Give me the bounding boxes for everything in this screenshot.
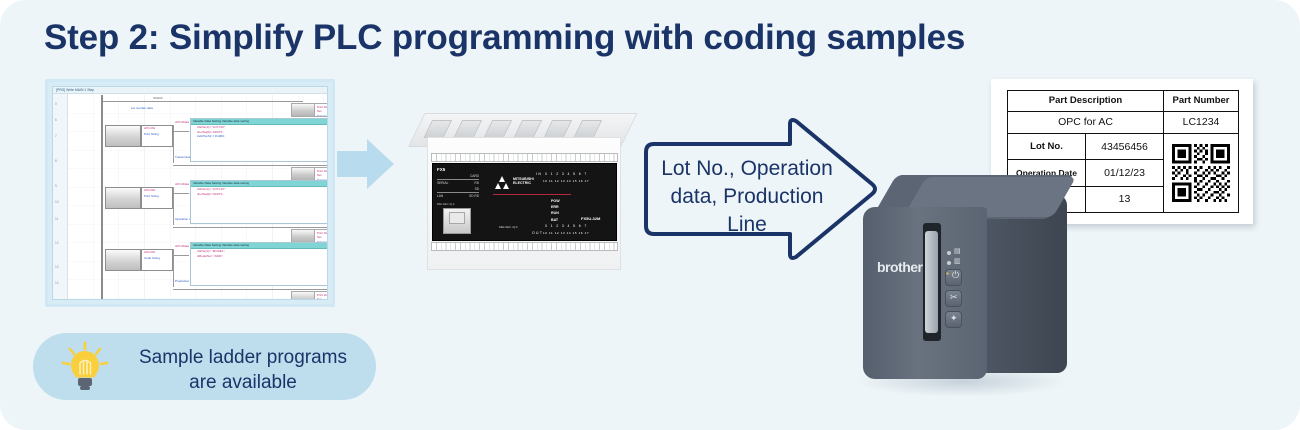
- ladder-wire: [103, 101, 303, 102]
- wireless-icon: ✦: [950, 313, 958, 324]
- ladder-button-note-title: Print Data Set: [317, 105, 328, 114]
- label-header-part-number: Part Number: [1164, 91, 1239, 112]
- printer-status-led-2: [947, 261, 951, 265]
- plc-vent: [543, 120, 572, 138]
- ladder-row-gutter: 0 6 7 8 9 10 11 12 13 14 15: [53, 94, 68, 299]
- plc-left-panel: FX5 CARD SERIAL RD SD LAN SD RD MELSEC i…: [435, 166, 481, 239]
- ladder-operand-label: sPrintStr: [144, 188, 156, 192]
- plc-output-label: OUT: [532, 231, 543, 235]
- ladder-button-block[interactable]: Print Data Set Transmits to printer: [291, 167, 328, 181]
- ladder-button-block[interactable]: Print Data Set Transmits to printer: [291, 291, 328, 300]
- plc-serial-sd: SD: [437, 187, 479, 191]
- plc-status-leds: POW ERR RUN BAT: [551, 198, 560, 223]
- ladder-row-number: 13: [53, 266, 67, 269]
- ladder-row-number: 0: [53, 103, 67, 106]
- ladder-code-line: sVarTopStr = D1000;: [191, 134, 328, 139]
- ladder-button-note-body: Transmits data: [317, 114, 328, 116]
- ladder-function-button[interactable]: [292, 104, 315, 116]
- callout-text: Sample ladder programs are available: [121, 345, 365, 395]
- ladder-button-note: Print Data Set Transmits to printer: [315, 230, 328, 242]
- table-row: Lot No. 43456456: [1008, 133, 1239, 159]
- ladder-function-button[interactable]: [292, 168, 315, 180]
- label-row-value-hidden: 13: [1086, 186, 1164, 212]
- ladder-operand-block[interactable]: sPrintStr Code String: [141, 249, 173, 271]
- label-row-label-lot-no: Lot No.: [1008, 133, 1086, 159]
- ladder-operand-block[interactable]: sPrintStr Print String: [141, 125, 173, 147]
- mitsubishi-triangle-icon: [495, 176, 510, 189]
- brother-label-printer: brother ▤ ▥ ● ⏻ ✂ ✦: [845, 175, 1085, 407]
- plc-vent: [573, 120, 602, 138]
- ladder-instruction-block[interactable]: [105, 125, 141, 147]
- plc-input-row-1: 0 1 2 3 4 5 6 7: [545, 172, 588, 176]
- printer-brand-logo: brother: [877, 259, 923, 275]
- plc-terminal-strip-top: [431, 153, 618, 162]
- label-row-value-operation-date: 01/12/23: [1086, 160, 1164, 186]
- printer-side-panel: [985, 195, 1067, 373]
- qr-code-icon: [1172, 144, 1230, 202]
- ladder-button-note-title: Print Data Set: [317, 169, 328, 178]
- ladder-row-number: 6: [53, 119, 67, 122]
- printer-status-led-1: [947, 251, 951, 255]
- plc-lan-leds: SD RD: [437, 194, 479, 198]
- ladder-row-number: 8: [53, 160, 67, 163]
- ladder-operand-value: Print String: [144, 132, 159, 136]
- plc-small-print: MELSEC iQ-F: [499, 226, 518, 229]
- plc-divider: [437, 179, 479, 180]
- page-title: Step 2: Simplify PLC programming with co…: [44, 18, 965, 58]
- power-icon: ⏻: [952, 270, 959, 281]
- slide-canvas: Step 2: Simplify PLC programming with co…: [0, 0, 1300, 430]
- callout-line2: are available: [121, 370, 365, 395]
- ladder-function-button[interactable]: [292, 230, 315, 242]
- power-led-icon: ●: [946, 271, 949, 277]
- plc-output-row-1: 0 1 2 3 4 5 6 7: [545, 224, 588, 228]
- ladder-button-note-title: Print Data Set: [317, 231, 328, 240]
- ladder-row-number: 10: [53, 201, 67, 204]
- label-row-value-lot-no: 43456456: [1086, 133, 1164, 159]
- ladder-operand-label: sPrintStr: [144, 250, 156, 254]
- ladder-row-number: 7: [53, 135, 67, 138]
- plc-led-bat: BAT: [551, 217, 560, 223]
- plc-model-label: FX5U-32M: [581, 216, 600, 221]
- ladder-instruction-block[interactable]: [105, 187, 141, 209]
- callout-line1: Sample ladder programs: [121, 345, 365, 370]
- plc-input-label: IN: [536, 172, 542, 176]
- ladder-wire: [173, 227, 328, 228]
- ladder-rung-comment: Lot number data: [131, 106, 153, 110]
- ladder-button-note-title: Print Data Set: [317, 293, 328, 300]
- ladder-operand-label: sPrintStr: [144, 126, 156, 130]
- ladder-wire: [173, 131, 189, 132]
- ladder-wire: [173, 255, 189, 256]
- ladder-row-number: 9: [53, 185, 67, 188]
- ladder-operand-value: Code String: [144, 256, 160, 260]
- data-flow-arrow-text: Lot No., Operation data, Production Line: [652, 155, 842, 239]
- plc-ladder-program-screenshot[interactable]: [PRG] Write MAIN 1 Step 0 6 7 8 9 10 11 …: [45, 79, 335, 307]
- plc-front-panel: FX5 CARD SERIAL RD SD LAN SD RD MELSEC i…: [432, 163, 617, 241]
- lightbulb-icon: [59, 341, 111, 393]
- table-row: OPC for AC LC1234: [1008, 111, 1239, 133]
- ladder-button-note: Print Data Set Transmits data: [315, 104, 328, 116]
- label-value-part-number: LC1234: [1164, 111, 1239, 133]
- plc-series-label: FX5: [437, 167, 445, 172]
- plc-vent: [453, 120, 482, 138]
- plc-melsec-label: MELSEC iQ-F: [437, 202, 479, 206]
- ladder-branch-label: sPrintData: [175, 120, 189, 124]
- plc-brand-line2: ELECTRIC: [513, 181, 531, 185]
- ladder-row-number: 12: [53, 242, 67, 245]
- plc-card-label: CARD: [437, 174, 479, 178]
- plc-input-row-2: 10 11 12 13 14 15 16 17: [543, 179, 589, 183]
- ladder-row-number: 11: [53, 218, 67, 221]
- ladder-operand-value: Print String: [144, 194, 159, 198]
- label-header-part-description: Part Description: [1008, 91, 1164, 112]
- plc-led-run: RUN: [551, 210, 560, 216]
- ladder-wire: [173, 289, 328, 290]
- table-row: Part Description Part Number: [1008, 91, 1239, 112]
- plc-accent-line: [493, 194, 571, 195]
- ladder-code-block[interactable]: Variable Data Setting Variable data sett…: [190, 180, 328, 224]
- label-qr-cell: [1164, 133, 1239, 212]
- plc-vent: [483, 120, 512, 138]
- data-arrow-line1: Lot No., Operation: [652, 155, 842, 183]
- ladder-code-block[interactable]: Variable Data Setting Variable data sett…: [190, 118, 328, 162]
- ladder-wire: [173, 165, 328, 166]
- ladder-window-titlebar: [PRG] Write MAIN 1 Step: [53, 87, 327, 94]
- ladder-operand-block[interactable]: sPrintStr Print String: [141, 187, 173, 209]
- ladder-to-plc-arrow: [337, 137, 395, 192]
- ladder-button-block[interactable]: Print Data Set Transmits to printer: [291, 229, 328, 243]
- plc-terminal-strip-bottom: [431, 242, 618, 251]
- ladder-power-rail: [101, 95, 103, 299]
- ladder-code-block[interactable]: Variable Data Setting Variable data sett…: [190, 242, 328, 286]
- ladder-branch-label: sPrintData: [175, 182, 189, 186]
- ladder-function-button[interactable]: [292, 292, 315, 300]
- mitsubishi-fx5u-plc: FX5 CARD SERIAL RD SD LAN SD RD MELSEC i…: [402, 113, 627, 273]
- ladder-window: [PRG] Write MAIN 1 Step 0 6 7 8 9 10 11 …: [52, 86, 328, 300]
- data-arrow-line2: data, Production Line: [652, 183, 842, 239]
- ladder-wire: [173, 193, 189, 194]
- ladder-branch-label: sPrintData: [175, 244, 189, 248]
- plc-ethernet-port[interactable]: [443, 208, 471, 234]
- plc-divider: [437, 192, 479, 193]
- printer-battery-icon: ▥: [954, 257, 961, 265]
- ladder-button-note: Print Data Set Transmits to printer: [315, 168, 328, 180]
- ladder-row-number: 14: [53, 282, 67, 285]
- printer-tape-guide: [925, 231, 938, 333]
- ladder-code-line: dLotNo[0]= D100*1;: [191, 192, 328, 197]
- ladder-button-note: Print Data Set Transmits to printer: [315, 292, 328, 300]
- plc-serial-rd: RD: [437, 181, 479, 185]
- plc-output-row-2: 10 11 12 13 14 15 16 17: [543, 231, 589, 235]
- ladder-instruction-block[interactable]: [105, 249, 141, 271]
- sample-programs-callout[interactable]: Sample ladder programs are available: [33, 333, 376, 400]
- ladder-code-line: dModelNo= "A000";: [191, 254, 328, 259]
- scissors-icon: ✂: [950, 292, 958, 303]
- plc-vent: [513, 120, 542, 138]
- printer-tape-icon: ▤: [954, 247, 961, 255]
- ladder-button-block[interactable]: Print Data Set Transmits data: [291, 103, 328, 117]
- label-value-part-description: OPC for AC: [1008, 111, 1164, 133]
- ladder-device-label: SM400: [153, 96, 163, 100]
- plc-vent: [423, 120, 452, 138]
